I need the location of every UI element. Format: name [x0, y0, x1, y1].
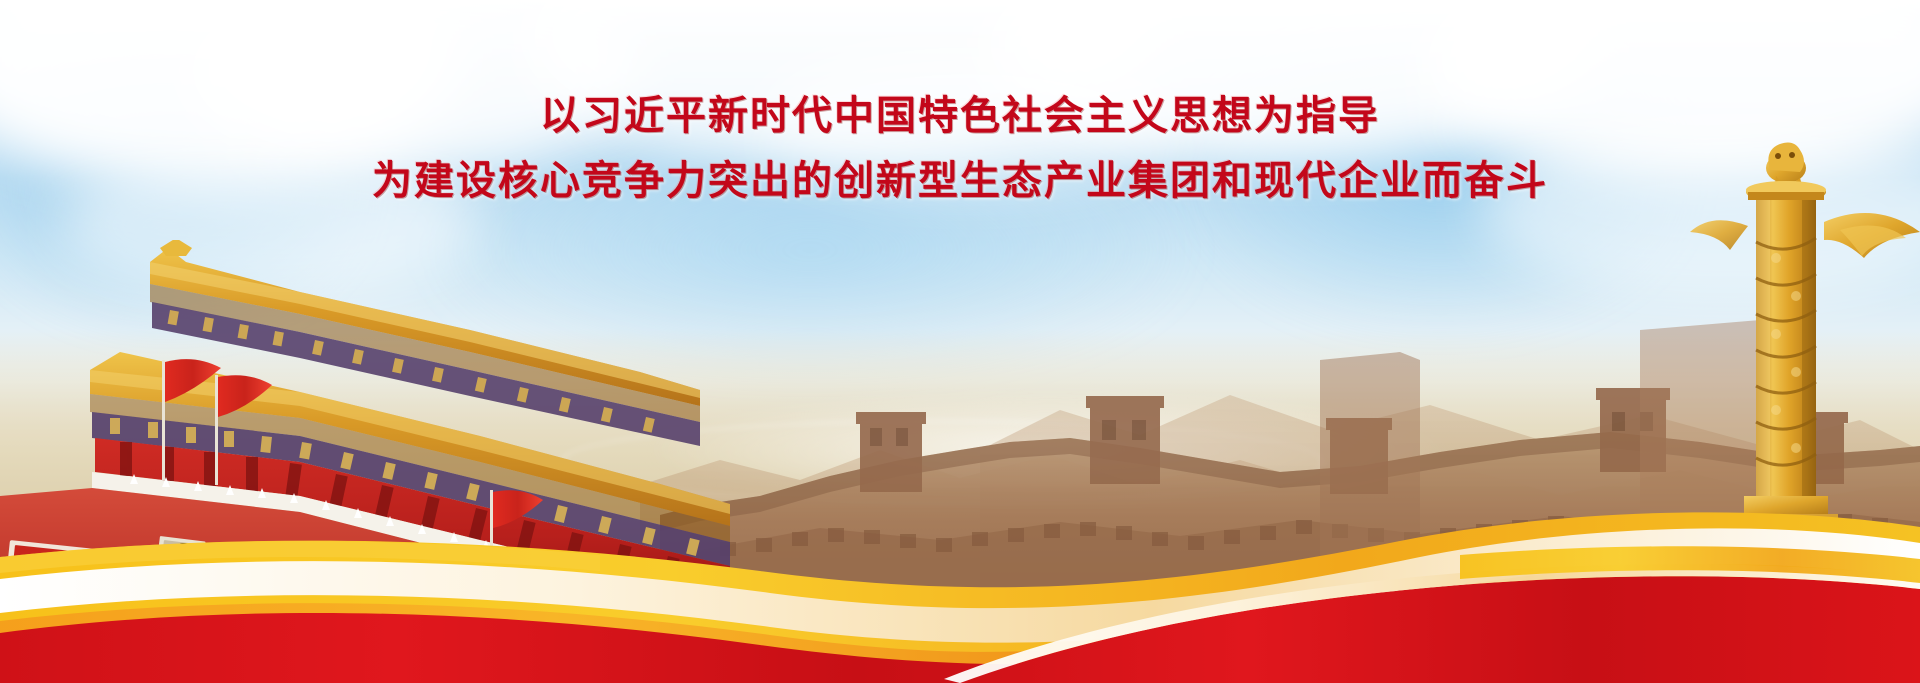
ribbon-waves — [0, 493, 1920, 683]
headline-line-1: 以习近平新时代中国特色社会主义思想为指导 — [0, 92, 1920, 141]
propaganda-banner: 以习近平新时代中国特色社会主义思想为指导 为建设核心竞争力突出的创新型生态产业集… — [0, 0, 1920, 683]
headline-block: 以习近平新时代中国特色社会主义思想为指导 为建设核心竞争力突出的创新型生态产业集… — [0, 92, 1920, 206]
headline-line-2: 为建设核心竞争力突出的创新型生态产业集团和现代企业而奋斗 — [0, 157, 1920, 206]
